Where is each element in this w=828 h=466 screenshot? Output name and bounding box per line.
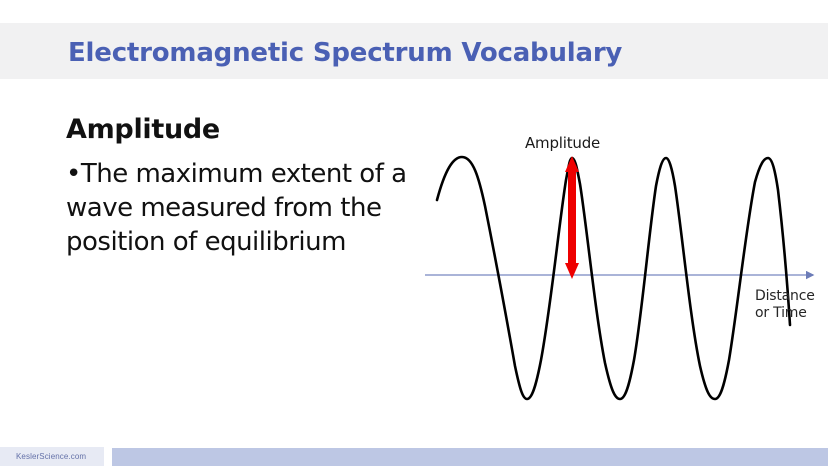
slide: Electromagnetic Spectrum Vocabulary Ampl… bbox=[0, 0, 828, 466]
wave-curve bbox=[437, 157, 790, 399]
bullet-marker: • bbox=[66, 159, 81, 189]
footer: KeslerScience.com bbox=[0, 444, 828, 466]
footer-accent-bar bbox=[112, 448, 828, 466]
wave-svg bbox=[415, 128, 825, 408]
axis-label-line1: Distance bbox=[755, 288, 815, 305]
axis-label: Distance or Time bbox=[755, 288, 815, 322]
axis-label-line2: or Time bbox=[755, 305, 815, 322]
footer-brand-label: KeslerScience.com bbox=[16, 452, 86, 461]
wave-diagram: Amplitude Distance or Time bbox=[415, 128, 825, 408]
content-heading: Amplitude bbox=[66, 114, 220, 145]
content-bullet: •The maximum extent of a wave measured f… bbox=[66, 157, 416, 259]
bullet-text: The maximum extent of a wave measured fr… bbox=[66, 159, 407, 257]
page-title: Electromagnetic Spectrum Vocabulary bbox=[68, 38, 622, 68]
amplitude-label: Amplitude bbox=[525, 134, 600, 152]
